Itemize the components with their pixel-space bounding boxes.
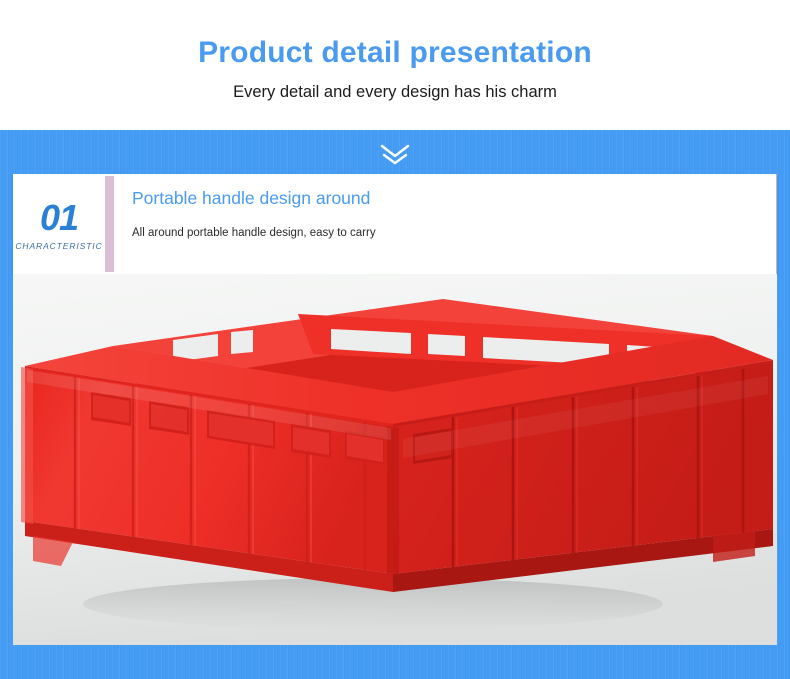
product-crate-illustration — [13, 274, 777, 645]
feature-heading: Portable handle design around — [132, 188, 776, 209]
feature-card: 01 CHARACTERISTIC Portable handle design… — [13, 174, 777, 274]
feature-number: 01 — [40, 200, 78, 236]
blue-banner-section: 01 CHARACTERISTIC Portable handle design… — [0, 130, 790, 679]
feature-number-label: CHARACTERISTIC — [15, 241, 102, 251]
card-divider — [105, 176, 114, 272]
scroll-down-indicator[interactable] — [0, 138, 790, 172]
page-header: Product detail presentation Every detail… — [0, 0, 790, 130]
feature-description: All around portable handle design, easy … — [132, 227, 776, 241]
page-title: Product detail presentation — [198, 36, 592, 69]
feature-text-block: Portable handle design around All around… — [114, 174, 776, 274]
page-subtitle: Every detail and every design has his ch… — [233, 83, 557, 101]
product-photo — [13, 274, 777, 645]
double-chevron-down-icon — [377, 142, 413, 168]
feature-number-block: 01 CHARACTERISTIC — [13, 174, 105, 274]
